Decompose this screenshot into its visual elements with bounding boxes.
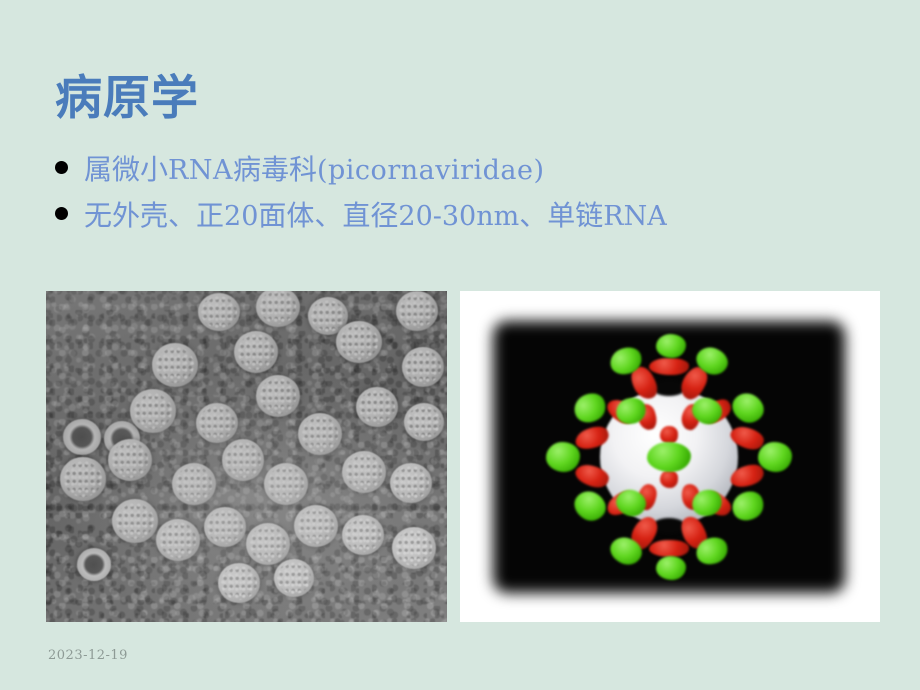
bullet-2-latin-paren: 20-30nm bbox=[398, 201, 519, 232]
bullet-1-cjk-mid: 病毒科 bbox=[233, 154, 317, 185]
bullet-text-2: 无外壳、正20面体、直径20-30nm、单链RNA bbox=[84, 198, 667, 234]
capsid-spike bbox=[569, 388, 611, 428]
virion-model bbox=[544, 332, 794, 582]
list-item: 属微小RNA病毒科(picornaviridae) bbox=[55, 152, 885, 198]
capsid-spike bbox=[758, 442, 792, 472]
bullet-2-latin-inline: 20 bbox=[224, 201, 258, 232]
capsid-spike bbox=[569, 486, 611, 526]
bullet-1-latin-paren: (picornaviridae) bbox=[317, 155, 545, 186]
capsid-loop bbox=[649, 540, 689, 557]
capsid-loop bbox=[649, 358, 689, 375]
bullet-dot-icon bbox=[55, 207, 68, 220]
capsid-spike bbox=[656, 334, 686, 358]
bullet-2-cjk-lead: 无外壳、正 bbox=[84, 200, 224, 231]
bullet-text-1: 属微小RNA病毒科(picornaviridae) bbox=[84, 152, 545, 188]
slide-canvas: 病原学 属微小RNA病毒科(picornaviridae) 无外壳、正20面体、… bbox=[0, 0, 920, 690]
bullet-1-latin-inline: RNA bbox=[168, 155, 233, 186]
electron-micrograph-image bbox=[46, 291, 447, 622]
bullet-2-latin-tail: RNA bbox=[603, 201, 666, 232]
page-title: 病原学 bbox=[55, 72, 199, 124]
bullet-dot-icon bbox=[55, 161, 68, 174]
capsid-spike bbox=[656, 556, 686, 580]
micrograph-shading-overlay bbox=[46, 291, 447, 622]
bullet-2-cjk-mid: 面体、直径 bbox=[258, 200, 398, 231]
capsid-spike bbox=[727, 388, 769, 428]
capsid-loop bbox=[660, 470, 678, 488]
bullet-1-cjk-lead: 属微小 bbox=[84, 154, 168, 185]
capsid-spike bbox=[647, 442, 691, 472]
list-item: 无外壳、正20面体、直径20-30nm、单链RNA bbox=[55, 198, 885, 244]
bullet-2-cjk-tail: 、单链 bbox=[519, 200, 603, 231]
capsid-spike bbox=[546, 442, 580, 472]
capsid-spike bbox=[727, 486, 769, 526]
date-stamp: 2023-12-19 bbox=[48, 648, 128, 663]
virus-3d-model-image bbox=[460, 291, 880, 622]
model-stage bbox=[493, 321, 845, 593]
bullet-list: 属微小RNA病毒科(picornaviridae) 无外壳、正20面体、直径20… bbox=[55, 152, 885, 244]
